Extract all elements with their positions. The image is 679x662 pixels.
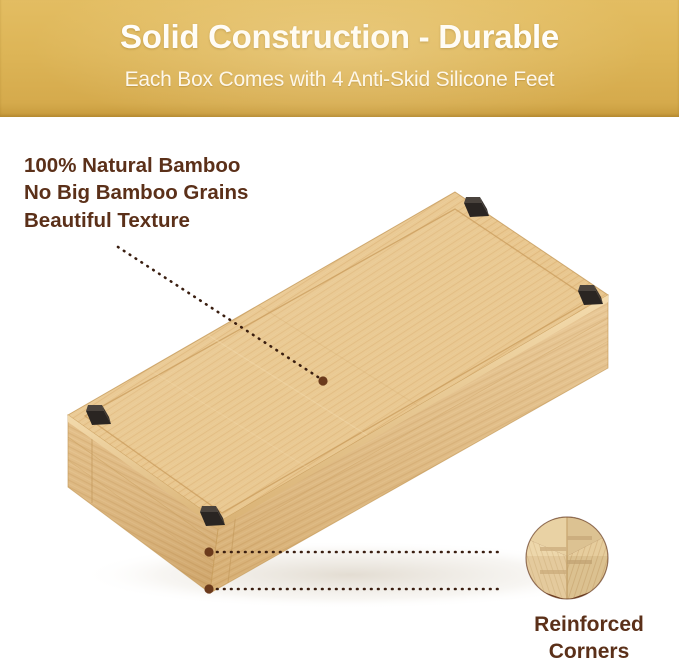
bamboo-box [68, 192, 608, 593]
product-illustration [0, 0, 679, 662]
product-infographic: Solid Construction - Durable Each Box Co… [0, 0, 679, 662]
material-callout-line-2: No Big Bamboo Grains [24, 179, 248, 206]
material-callout-line-3: Beautiful Texture [24, 207, 248, 234]
material-callout-line-1: 100% Natural Bamboo [24, 152, 248, 179]
corner-callout-text: Reinforced Corners [498, 612, 679, 662]
material-callout-text: 100% Natural Bamboo No Big Bamboo Grains… [24, 152, 248, 234]
corner-callout-line-1: Reinforced [498, 612, 679, 639]
leader-endpoint-material [318, 376, 327, 385]
leader-endpoint-corner-upper [204, 547, 213, 556]
corner-callout-line-2: Corners [498, 639, 679, 662]
leader-endpoint-corner-lower [204, 584, 213, 593]
